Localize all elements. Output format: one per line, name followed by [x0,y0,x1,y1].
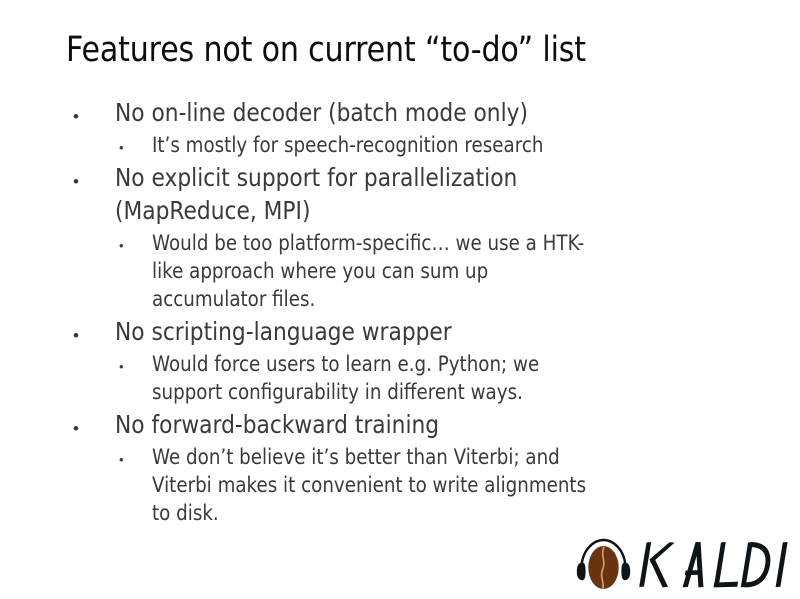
bullet-marker: • [119,141,124,154]
list-item-text: No scripting-language wrapper [115,315,794,348]
text-line: No explicit support for parallelization [115,161,794,194]
coffee-bean-icon [588,546,618,589]
bullet-marker: • [73,108,79,125]
bullet-marker: • [73,420,79,437]
list-item: • We don’t believe it’s better than Vite… [0,443,800,527]
text-line: (MapReduce, MPI) [115,194,794,227]
bullet-marker: • [73,327,79,344]
list-item: • No on-line decoder (batch mode only) [0,96,800,129]
list-item-text: No on-line decoder (batch mode only) [115,96,794,129]
text-line: Would force users to learn e.g. Python; … [152,350,796,378]
list-item-text: Would force users to learn e.g. Python; … [152,350,796,406]
text-line: No on-line decoder (batch mode only) [115,96,794,129]
text-line: to disk. [152,499,796,527]
bullet-marker: • [119,360,124,373]
slide-canvas: Features not on current “to-do” list • N… [0,0,800,599]
list-item: • No forward-backward training [0,408,800,441]
text-line: It’s mostly for speech-recognition resea… [152,131,796,159]
list-item: • Would be too platform-specific… we use… [0,229,800,313]
list-item: • No scripting-language wrapper [0,315,800,348]
kaldi-logo [576,536,790,594]
bullet-marker: • [73,173,79,190]
text-line: Would be too platform-specific… we use a… [152,229,796,257]
text-line: accumulator files. [152,285,796,313]
page-title: Features not on current “to-do” list [66,28,668,72]
text-line: like approach where you can sum up [152,257,796,285]
list-item-text: It’s mostly for speech-recognition resea… [152,131,796,159]
list-item: • It’s mostly for speech-recognition res… [0,131,800,159]
text-line: No forward-backward training [115,408,794,441]
list-item-text: No forward-backward training [115,408,794,441]
bullet-list: • No on-line decoder (batch mode only) •… [0,96,800,529]
list-item-text: No explicit support for parallelization … [115,161,794,227]
text-line: support configurability in different way… [152,378,796,406]
list-item: • No explicit support for parallelizatio… [0,161,800,227]
list-item-text: Would be too platform-specific… we use a… [152,229,796,313]
list-item-text: We don’t believe it’s better than Viterb… [152,443,796,527]
text-line: We don’t believe it’s better than Viterb… [152,443,796,471]
bullet-marker: • [119,239,124,252]
text-line: Viterbi makes it convenient to write ali… [152,471,796,499]
kaldi-wordmark [639,542,787,587]
text-line: No scripting-language wrapper [115,315,794,348]
list-item: • Would force users to learn e.g. Python… [0,350,800,406]
bullet-marker: • [119,453,124,466]
